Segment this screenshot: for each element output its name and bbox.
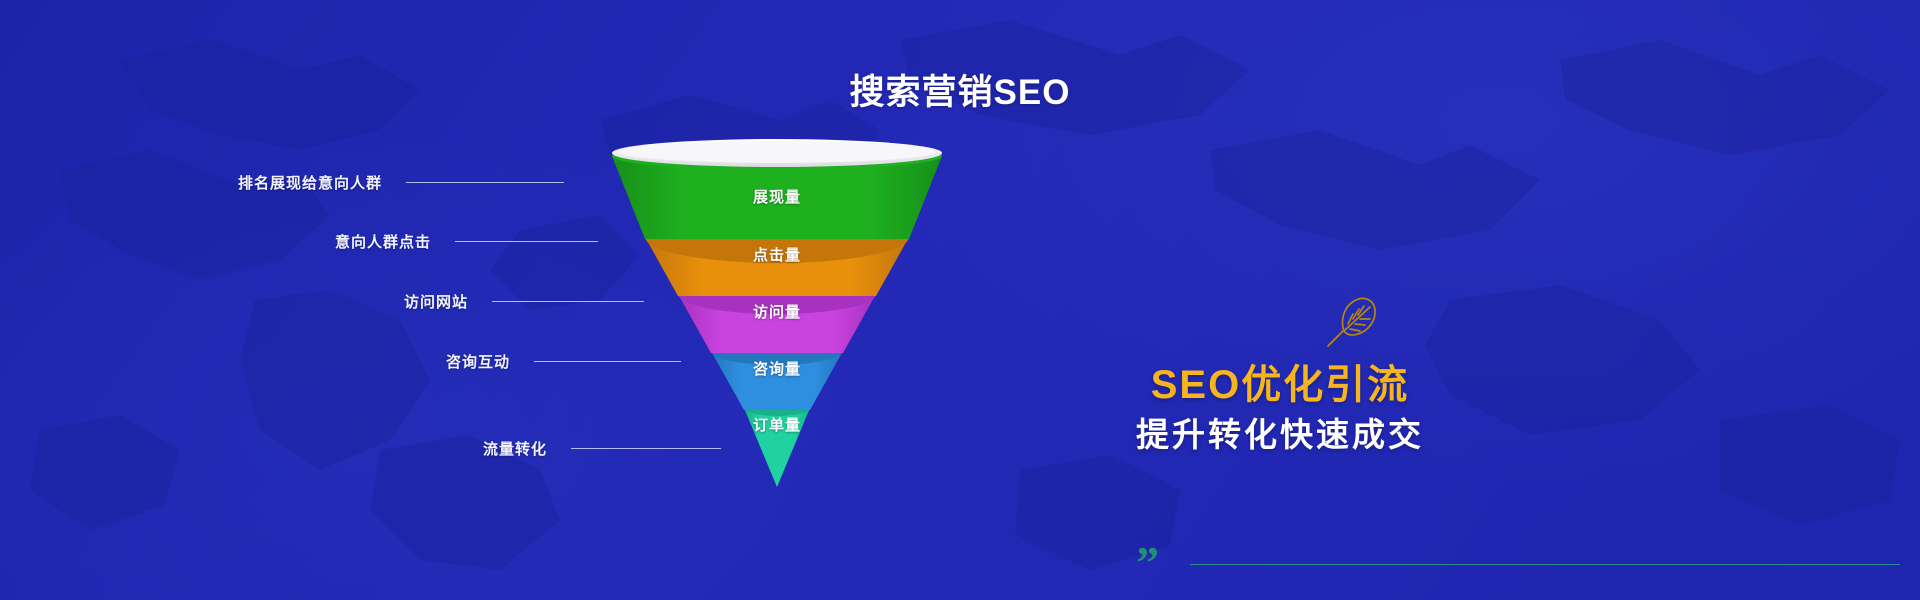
seo-funnel-banner: 搜索营销SEO 排名展现给意向人群 意向人群点击 访问网站 咨询互动 流量转化 (0, 0, 1920, 600)
funnel-segment-5 (744, 400, 810, 487)
quote-mark-icon: ” (1136, 540, 1159, 586)
funnel-rim (612, 139, 942, 167)
promo-subline: 提升转化快速成交 (1020, 408, 1540, 456)
feather-icon (1320, 290, 1382, 352)
step-row-3: 访问网站 (404, 291, 644, 311)
step-row-2: 意向人群点击 (335, 231, 598, 251)
step-label-3: 访问网站 (404, 291, 468, 312)
promo-headline: SEO优化引流 (1020, 352, 1540, 410)
conversion-funnel: 展现量 点击量 访问量 咨询量 订单量 (612, 142, 942, 492)
promo-divider (1190, 564, 1900, 565)
step-leader-line-1 (406, 182, 564, 183)
step-label-1: 排名展现给意向人群 (238, 172, 382, 193)
step-label-2: 意向人群点击 (335, 231, 431, 252)
step-label-4: 咨询互动 (446, 351, 510, 372)
page-title: 搜索营销SEO (680, 64, 1240, 115)
step-label-5: 流量转化 (483, 438, 547, 459)
step-row-1: 排名展现给意向人群 (238, 172, 564, 192)
step-leader-line-2 (455, 241, 598, 242)
